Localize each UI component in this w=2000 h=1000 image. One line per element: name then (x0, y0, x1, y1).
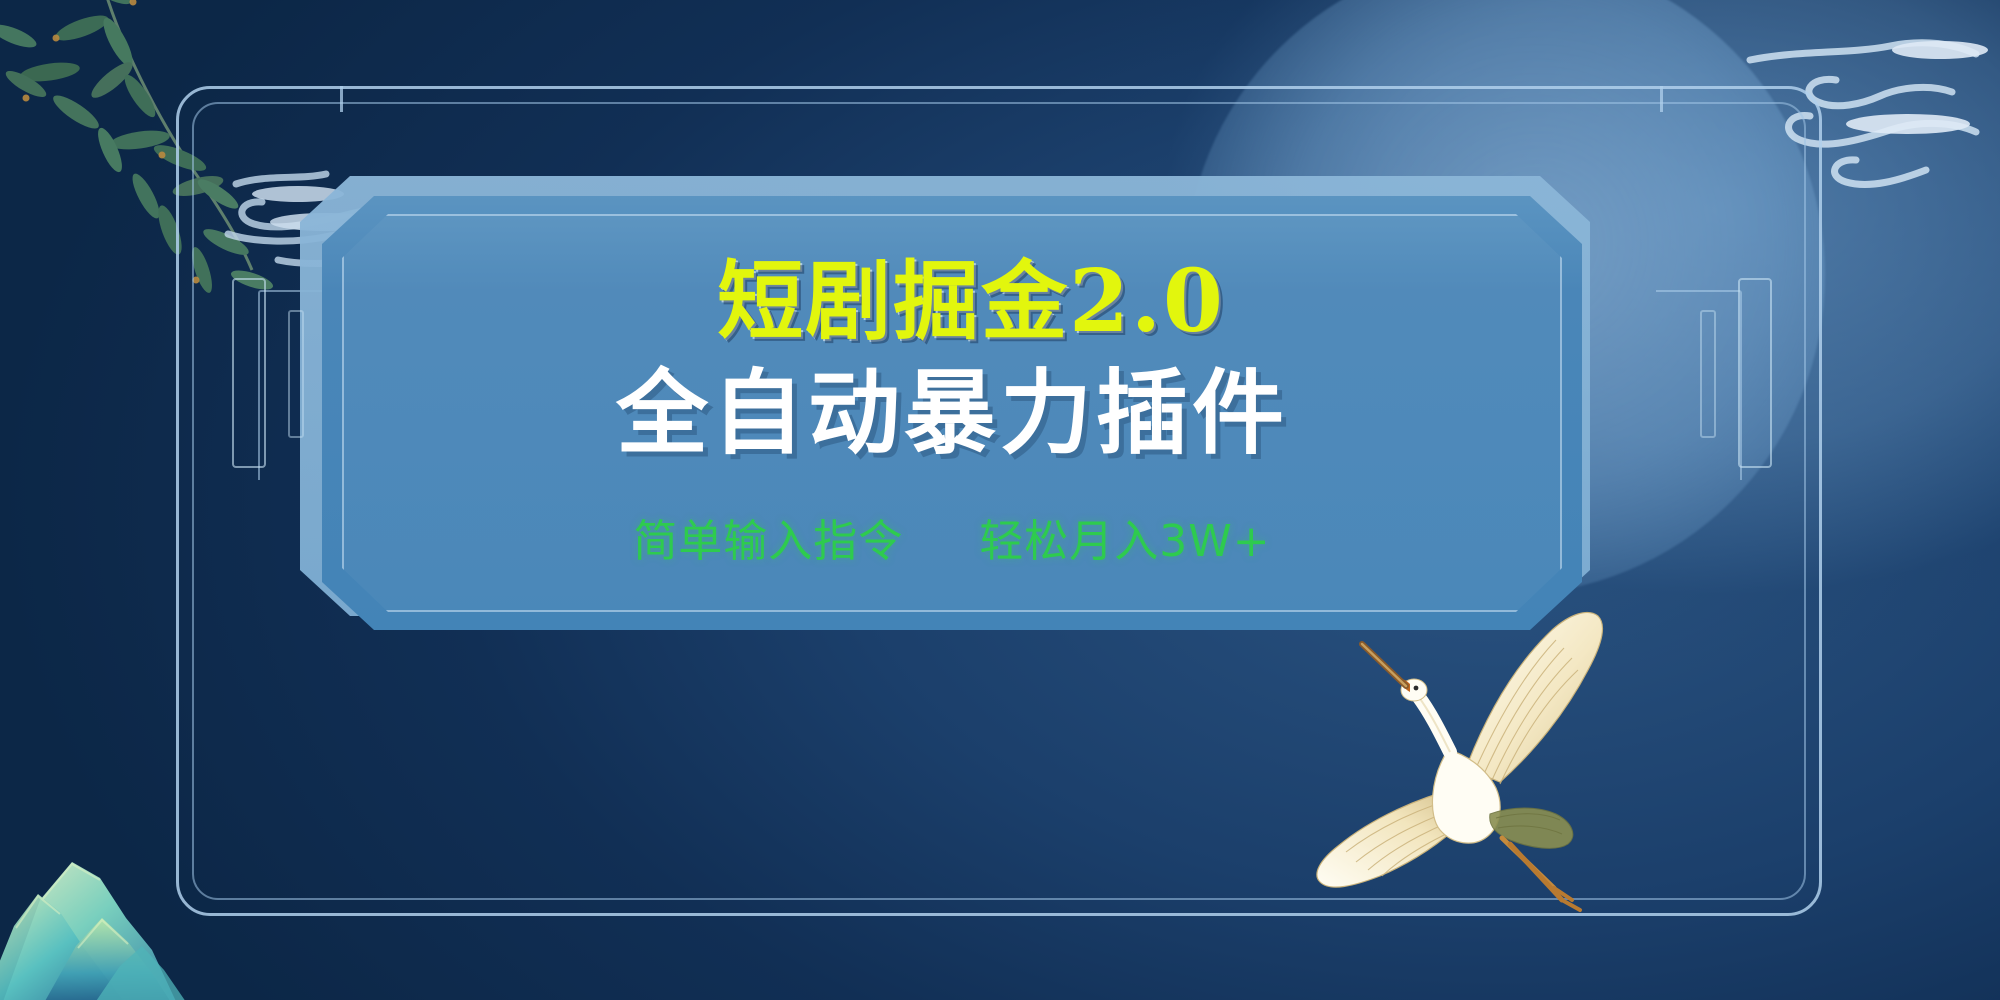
poster-text-block: 短剧掘金2.0 全自动暴力插件 简单输入指令 轻松月入3W+ (322, 196, 1582, 630)
frame-notch (1660, 86, 1663, 112)
bracket-ornament-right-inner (1700, 310, 1716, 438)
flying-crane-icon (1290, 600, 1630, 930)
frame-notch (340, 86, 343, 112)
subtitle-left: 简单输入指令 (633, 505, 903, 569)
poster-subtitle-row: 简单输入指令 轻松月入3W+ (633, 505, 1270, 569)
bracket-ornament-left-inner (288, 310, 304, 438)
subtitle-right: 轻松月入3W+ (979, 505, 1270, 569)
bracket-ornament-left (232, 278, 266, 468)
poster-title-primary: 短剧掘金2.0 (679, 257, 1225, 347)
poster-canvas: 短剧掘金2.0 全自动暴力插件 简单输入指令 轻松月入3W+ (0, 0, 2000, 1000)
frame-tick (1656, 290, 1742, 480)
mountain-range-icon (0, 650, 310, 1000)
bracket-ornament-right (1738, 278, 1772, 468)
poster-title-secondary: 全自动暴力插件 (616, 365, 1288, 462)
